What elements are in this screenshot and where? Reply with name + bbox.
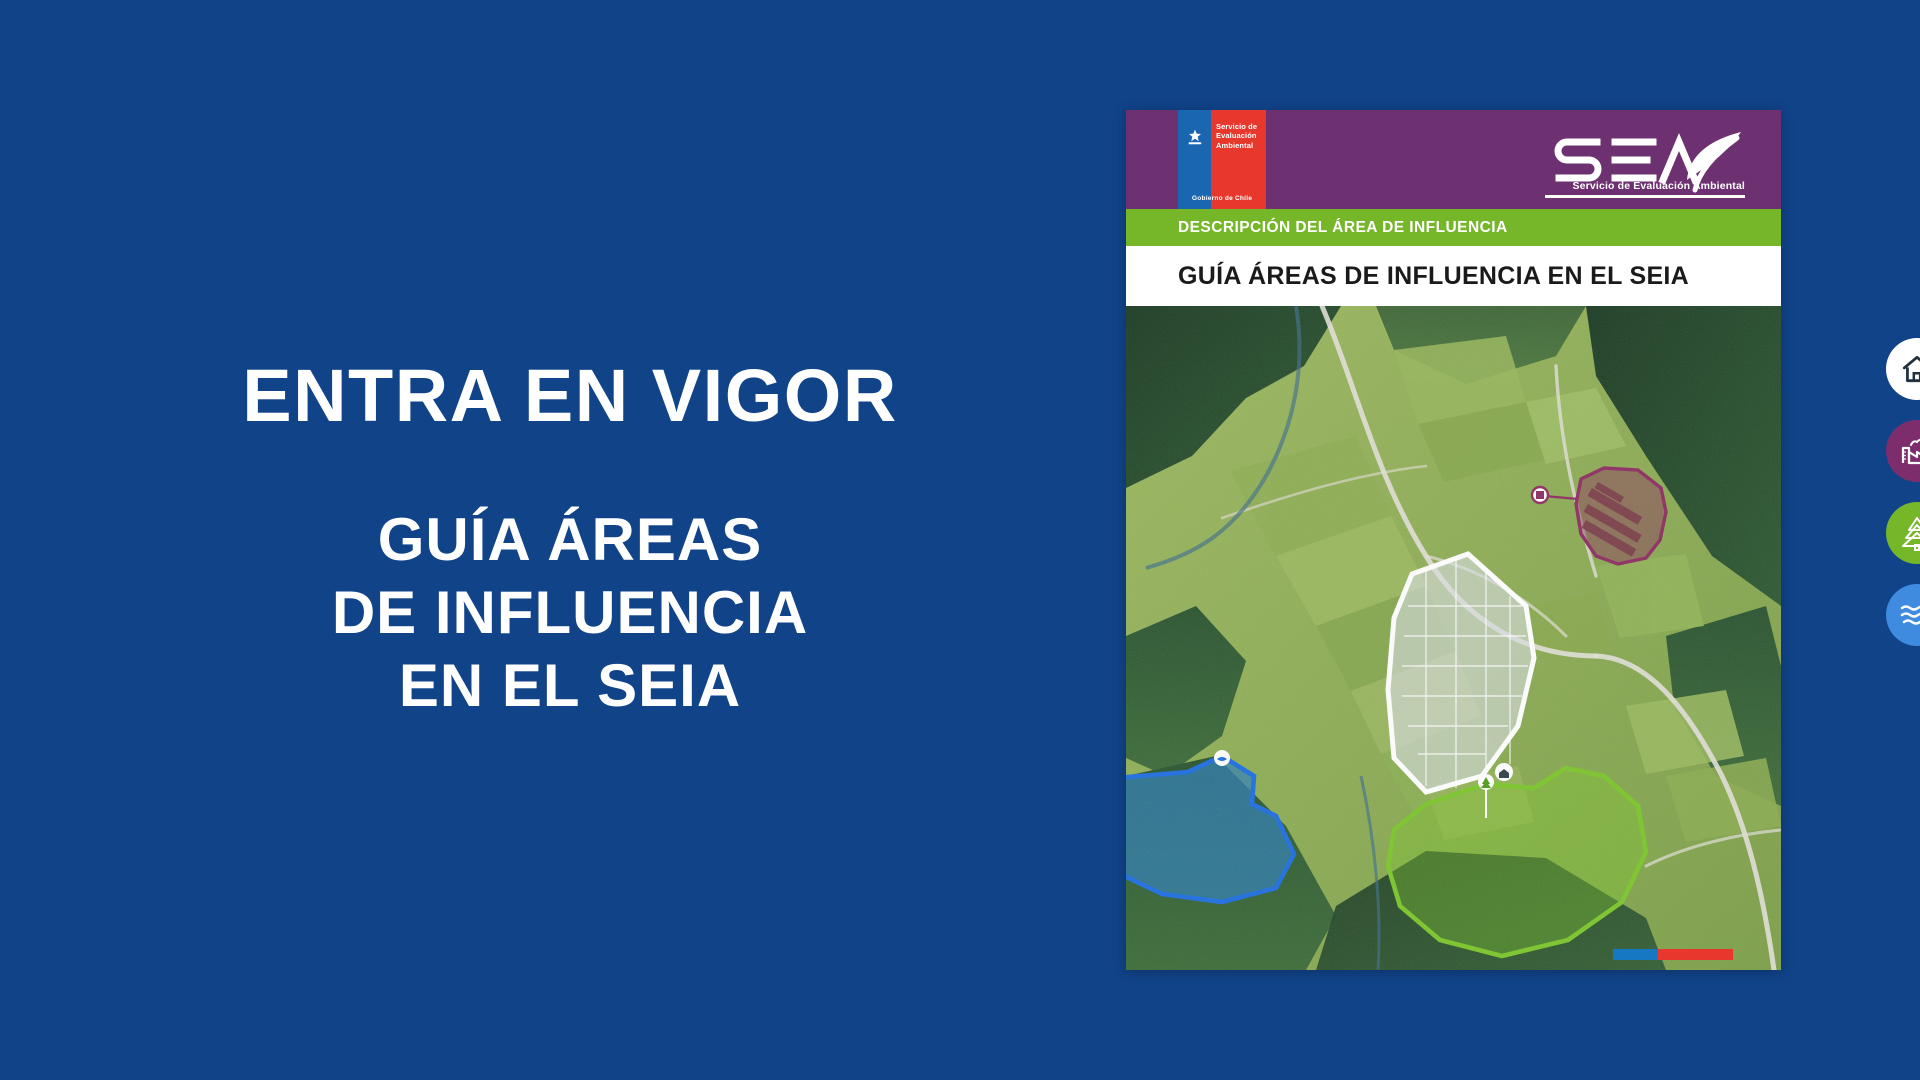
cover-title: GUÍA ÁREAS DE INFLUENCIA EN EL SEIA xyxy=(1178,262,1689,291)
page-title: ENTRA EN VIGOR xyxy=(242,357,898,435)
tree-icon xyxy=(1900,515,1920,551)
promo-panel: ENTRA EN VIGOR GUÍA ÁREAS DE INFLUENCIA … xyxy=(0,0,1100,1080)
agency-name-line-1: Servicio de xyxy=(1216,122,1257,131)
promo-subtitle-line-1: GUÍA ÁREAS xyxy=(332,503,808,576)
sea-logo-rule xyxy=(1545,195,1745,198)
promo-subtitle-line-2: DE INFLUENCIA xyxy=(332,576,808,649)
home-icon xyxy=(1900,352,1920,386)
flag-red-segment xyxy=(1658,949,1733,960)
cover-kicker-band: DESCRIPCIÓN DEL ÁREA DE INFLUENCIA xyxy=(1126,209,1781,246)
chile-flag-bar xyxy=(1613,949,1733,960)
flag-blue-segment xyxy=(1613,949,1658,960)
cover-masthead: Servicio de Evaluación Ambiental Gobiern… xyxy=(1126,110,1781,209)
gobierno-de-chile-logo: Servicio de Evaluación Ambiental Gobiern… xyxy=(1178,110,1266,209)
factory-icon xyxy=(1899,434,1920,468)
cover-kicker-label: DESCRIPCIÓN DEL ÁREA DE INFLUENCIA xyxy=(1178,219,1508,237)
water-icon xyxy=(1898,600,1920,630)
gobierno-de-chile-label: Gobierno de Chile xyxy=(1178,195,1266,202)
factory-icon-bubble[interactable] xyxy=(1886,420,1920,482)
promo-subtitle-line-3: EN EL SEIA xyxy=(332,649,808,722)
tree-icon-bubble[interactable] xyxy=(1886,502,1920,564)
aerial-photo xyxy=(1126,306,1781,970)
agency-name-line-3: Ambiental xyxy=(1216,141,1257,150)
home-icon-bubble[interactable] xyxy=(1886,338,1920,400)
agency-name-line-2: Evaluación xyxy=(1216,131,1257,140)
coat-of-arms-icon xyxy=(1185,128,1204,147)
cover-title-band: GUÍA ÁREAS DE INFLUENCIA EN EL SEIA xyxy=(1126,246,1781,306)
document-cover[interactable]: Servicio de Evaluación Ambiental Gobiern… xyxy=(1126,110,1781,970)
cover-map[interactable] xyxy=(1126,306,1781,970)
water-icon-bubble[interactable] xyxy=(1886,584,1920,646)
promo-subtitle: GUÍA ÁREAS DE INFLUENCIA EN EL SEIA xyxy=(332,503,808,723)
agency-name: Servicio de Evaluación Ambiental xyxy=(1216,122,1257,150)
sea-logo-tagline: Servicio de Evaluación Ambiental xyxy=(1545,180,1745,192)
topic-icon-rail[interactable] xyxy=(1886,338,1920,646)
